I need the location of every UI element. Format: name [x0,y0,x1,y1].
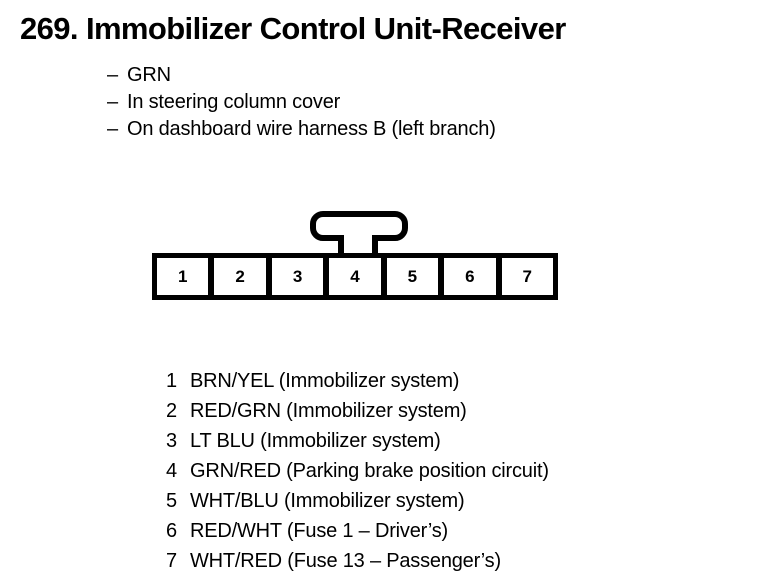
legend-pin-description: WHT/BLU (Immobilizer system) [190,486,464,516]
pin-cell: 4 [329,258,380,295]
legend-row: 2 RED/GRN (Immobilizer system) [166,396,746,426]
note-line: – On dashboard wire harness B (left bran… [107,116,727,143]
pin-cell: 3 [272,258,323,295]
legend-pin-description: BRN/YEL (Immobilizer system) [190,366,459,396]
legend-row: 7 WHT/RED (Fuse 13 – Passenger’s) [166,546,746,576]
legend-row: 6 RED/WHT (Fuse 1 – Driver’s) [166,516,746,546]
note-line: – In steering column cover [107,89,727,116]
dash-marker: – [107,116,127,143]
legend-pin-description: RED/WHT (Fuse 1 – Driver’s) [190,516,448,546]
note-line: – GRN [107,62,727,89]
legend-row: 3 LT BLU (Immobilizer system) [166,426,746,456]
legend-pin-description: LT BLU (Immobilizer system) [190,426,441,456]
legend-pin-number: 1 [166,366,190,396]
dash-marker: – [107,62,127,89]
pin-cell: 1 [157,258,208,295]
page-title: 269. Immobilizer Control Unit-Receiver [20,10,566,48]
legend-pin-number: 5 [166,486,190,516]
legend-pin-description: RED/GRN (Immobilizer system) [190,396,467,426]
legend-pin-number: 4 [166,456,190,486]
legend-row: 4 GRN/RED (Parking brake position circui… [166,456,746,486]
pin-cell: 6 [444,258,495,295]
note-text: In steering column cover [127,89,340,116]
legend-pin-description: WHT/RED (Fuse 13 – Passenger’s) [190,546,501,576]
note-text: GRN [127,62,171,89]
connector-housing: 1 2 3 4 5 6 7 [152,253,558,300]
notes-list: – GRN – In steering column cover – On da… [107,62,727,143]
legend-row: 5 WHT/BLU (Immobilizer system) [166,486,746,516]
legend-pin-number: 7 [166,546,190,576]
pin-cell: 2 [214,258,265,295]
connector-diagram: 1 2 3 4 5 6 7 [152,211,562,301]
legend-row: 1 BRN/YEL (Immobilizer system) [166,366,746,396]
legend-pin-description: GRN/RED (Parking brake position circuit) [190,456,549,486]
pin-legend-list: 1 BRN/YEL (Immobilizer system) 2 RED/GRN… [166,366,746,576]
note-text: On dashboard wire harness B (left branch… [127,116,496,143]
dash-marker: – [107,89,127,116]
legend-pin-number: 3 [166,426,190,456]
legend-pin-number: 6 [166,516,190,546]
legend-pin-number: 2 [166,396,190,426]
pin-cell: 5 [387,258,438,295]
pin-cell: 7 [502,258,553,295]
